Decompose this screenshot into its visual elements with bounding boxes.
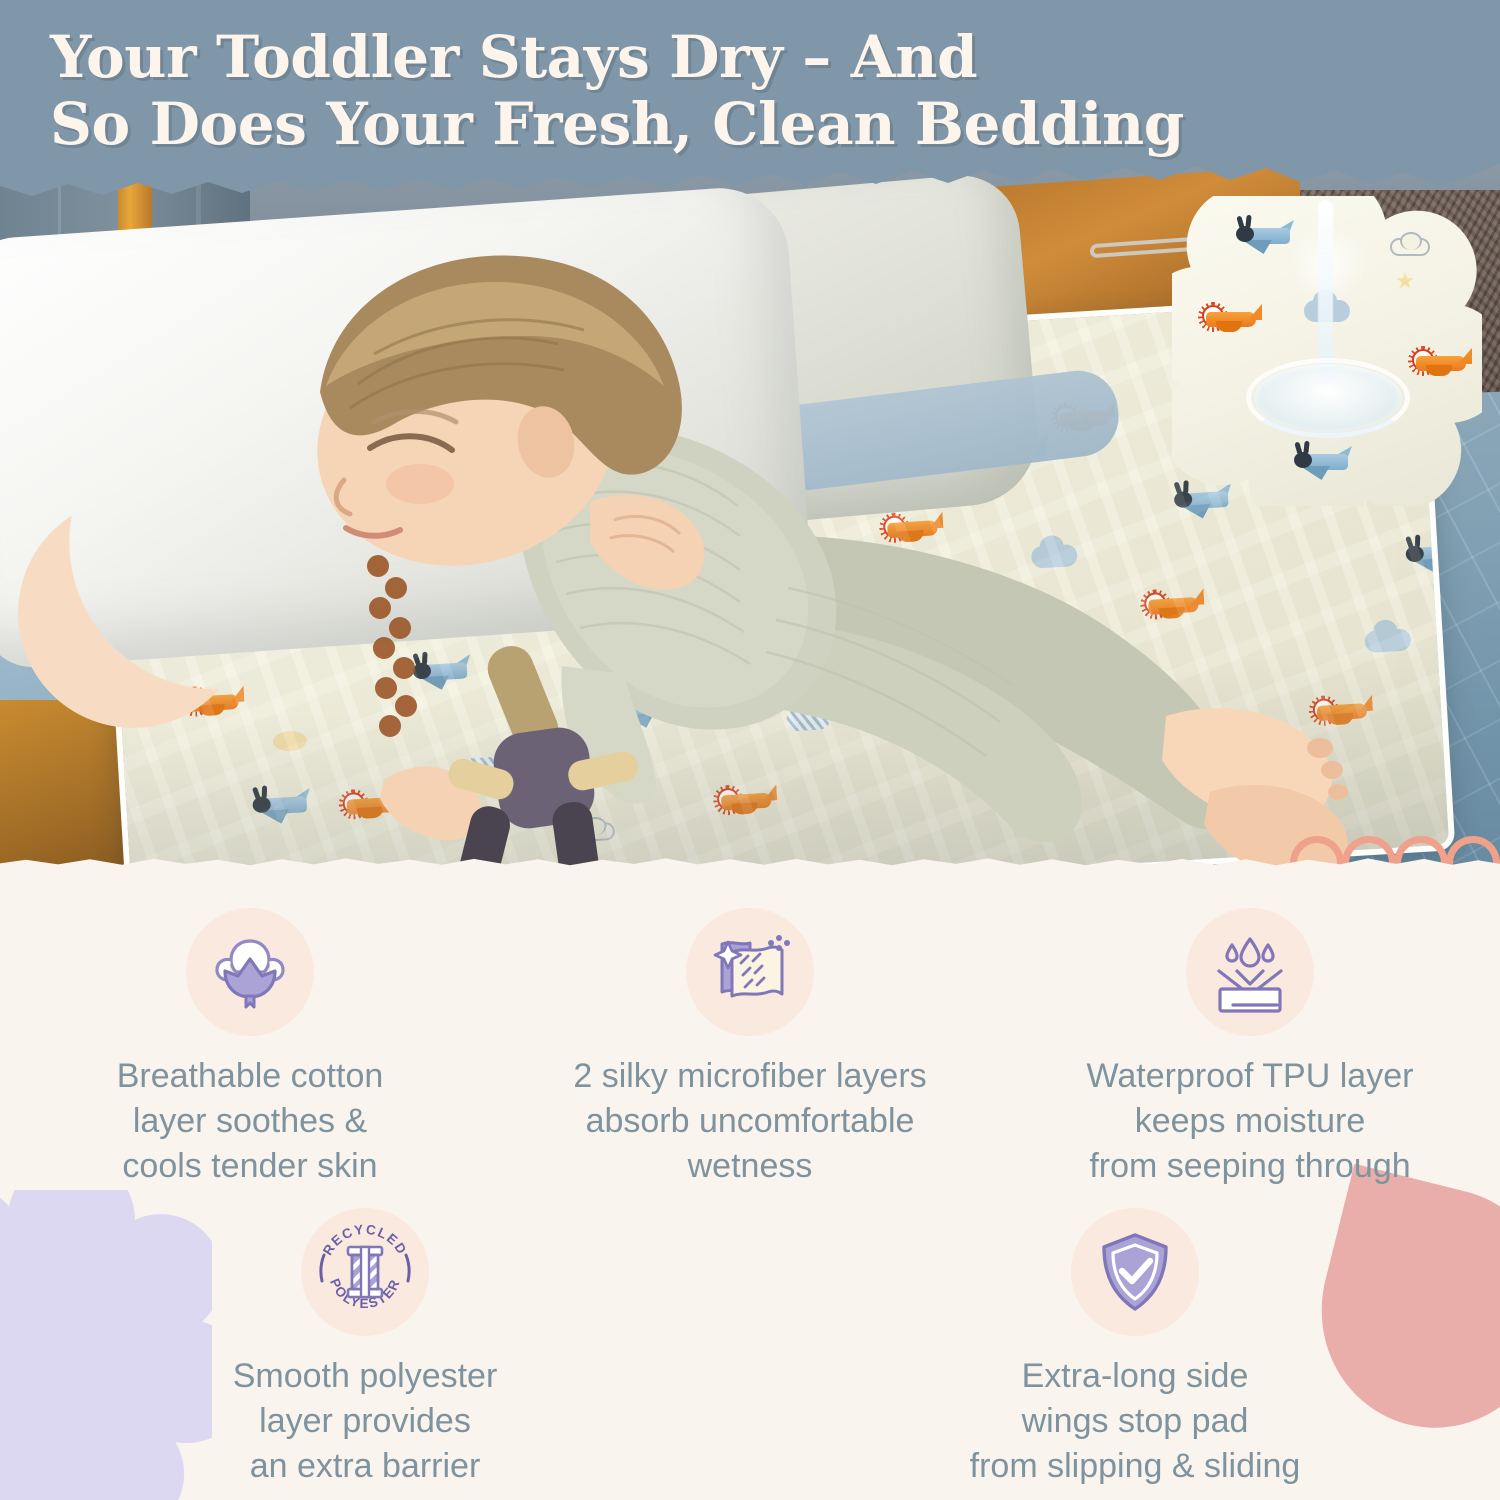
water-splash-ring <box>1246 358 1410 438</box>
caption-line: Extra-long side <box>970 1354 1301 1399</box>
feature-caption: Breathable cotton layer soothes & cools … <box>117 1054 384 1189</box>
caption-line: Smooth polyester <box>233 1354 498 1399</box>
features-bottom-row: RECYCLED POLYESTER <box>0 1208 1500 1489</box>
feature-waterproof-tpu: Waterproof TPU layer keeps moisture from… <box>1000 908 1500 1189</box>
caption-line: layer provides <box>233 1399 498 1444</box>
feature-microfiber-layers: 2 silky microfiber layers absorb uncomfo… <box>500 908 1000 1189</box>
feature-breathable-cotton: Breathable cotton layer soothes & cools … <box>0 908 500 1189</box>
feature-caption: Extra-long side wings stop pad from slip… <box>970 1354 1301 1489</box>
caption-line: wetness <box>573 1144 926 1189</box>
caption-line: an extra barrier <box>233 1444 498 1489</box>
recycled-polyester-badge-icon: RECYCLED POLYESTER <box>301 1208 429 1336</box>
caption-line: wings stop pad <box>970 1399 1301 1444</box>
caption-line: Breathable cotton <box>117 1054 384 1099</box>
cotton-boll-icon <box>186 908 314 1036</box>
caption-line: keeps moisture <box>1087 1099 1414 1144</box>
microfiber-cloth-icon <box>686 908 814 1036</box>
waterproof-layer-icon <box>1186 908 1314 1036</box>
product-infographic: Your Toddler Stays Dry – And So Does You… <box>0 0 1500 1500</box>
features-top-row: Breathable cotton layer soothes & cools … <box>0 908 1500 1189</box>
caption-line: from seeping through <box>1087 1144 1414 1189</box>
water-test-inset <box>1172 196 1482 506</box>
features-section: Breathable cotton layer soothes & cools … <box>0 890 1500 1500</box>
feature-caption: 2 silky microfiber layers absorb uncomfo… <box>573 1054 926 1189</box>
feature-smooth-polyester: RECYCLED POLYESTER <box>115 1208 615 1489</box>
caption-line: absorb uncomfortable <box>573 1099 926 1144</box>
headline-line-2: So Does Your Fresh, Clean Bedding <box>50 91 1450 158</box>
thread-spool-icon <box>348 1247 382 1297</box>
caption-line: 2 silky microfiber layers <box>573 1054 926 1099</box>
caption-line: layer soothes & <box>117 1099 384 1144</box>
headline-line-1: Your Toddler Stays Dry – And <box>50 23 977 91</box>
caption-line: Waterproof TPU layer <box>1087 1054 1414 1099</box>
feature-caption: Smooth polyester layer provides an extra… <box>233 1354 498 1489</box>
feature-caption: Waterproof TPU layer keeps moisture from… <box>1087 1054 1414 1189</box>
page-title: Your Toddler Stays Dry – And So Does You… <box>50 24 1450 159</box>
caption-line: from slipping & sliding <box>970 1444 1301 1489</box>
caption-line: cools tender skin <box>117 1144 384 1189</box>
feature-side-wings: Extra-long side wings stop pad from slip… <box>885 1208 1385 1489</box>
shield-check-icon <box>1071 1208 1199 1336</box>
